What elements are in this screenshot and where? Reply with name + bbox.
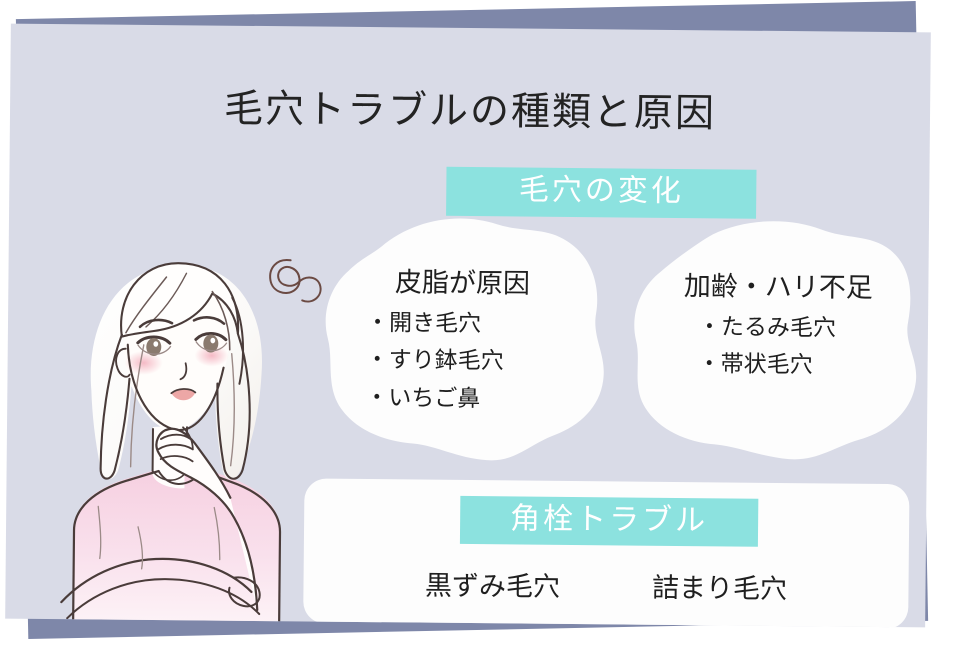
section-badge-plug-trouble: 角栓トラブル	[460, 496, 758, 547]
list-item: 黒ずみ毛穴	[425, 564, 560, 604]
list-item: 詰まり毛穴	[652, 566, 787, 606]
main-card: 毛穴トラブルの種類と原因	[5, 24, 931, 628]
blob-item-list: ・たるみ毛穴 ・帯状毛穴	[697, 309, 836, 385]
blob-heading: 加齢・ハリ不足	[622, 263, 931, 305]
section-badge-plug-trouble-label: 角栓トラブル	[510, 504, 708, 539]
card-plug-trouble: 角栓トラブル 黒ずみ毛穴 詰まり毛穴	[303, 478, 909, 627]
infographic-stage: 毛穴トラブルの種類と原因	[0, 0, 960, 650]
plug-trouble-item-row: 黒ずみ毛穴 詰まり毛穴	[303, 562, 908, 607]
page-title: 毛穴トラブルの種類と原因	[10, 76, 930, 141]
blob-item-list: ・開き毛穴 ・すり鉢毛穴 ・いちご鼻	[365, 305, 504, 418]
list-item: ・たるみ毛穴	[698, 309, 836, 348]
thinking-woman-illustration	[33, 176, 317, 627]
list-item: ・いちご鼻	[365, 380, 503, 419]
blob-aging-cause: 加齢・ハリ不足 ・たるみ毛穴 ・帯状毛穴	[619, 215, 931, 468]
list-item: ・開き毛穴	[366, 305, 504, 344]
list-item: ・帯状毛穴	[697, 346, 835, 385]
section-badge-pore-change-label: 毛穴の変化	[519, 175, 684, 210]
blob-heading: 皮脂が原因	[302, 259, 622, 301]
list-item: ・すり鉢毛穴	[365, 342, 503, 381]
blob-sebum-cause: 皮脂が原因 ・開き毛穴 ・すり鉢毛穴 ・いちご鼻	[307, 204, 630, 469]
